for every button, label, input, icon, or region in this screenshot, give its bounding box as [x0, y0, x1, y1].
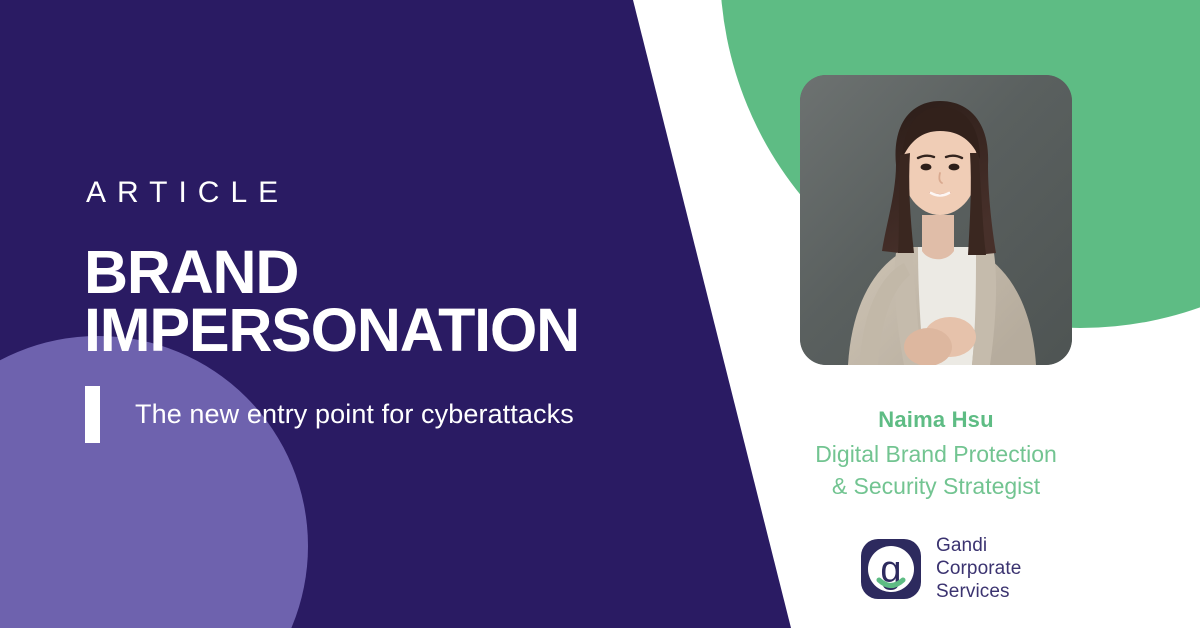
speaker-role: Digital Brand Protection & Security Stra… [790, 438, 1082, 502]
subtitle-row: The new entry point for cyberattacks [85, 386, 574, 443]
page-title: BRAND IMPERSONATION [84, 243, 579, 359]
brand-logo-lockup: g Gandi Corporate Services [860, 534, 1021, 603]
gandi-g-mark-icon: g [860, 538, 922, 600]
portrait-illustration [800, 75, 1072, 365]
speaker-name: Naima Hsu [790, 407, 1082, 433]
avatar [800, 75, 1072, 365]
article-promo-banner: ARTICLE BRAND IMPERSONATION The new entr… [0, 0, 1200, 628]
accent-bar [85, 386, 100, 443]
brand-logo-text: Gandi Corporate Services [936, 534, 1021, 603]
eyebrow-label: ARTICLE [86, 178, 289, 208]
speaker-block: Naima Hsu Digital Brand Protection & Sec… [790, 0, 1200, 628]
headline-block: ARTICLE BRAND IMPERSONATION The new entr… [0, 0, 640, 628]
page-subtitle: The new entry point for cyberattacks [135, 398, 574, 430]
